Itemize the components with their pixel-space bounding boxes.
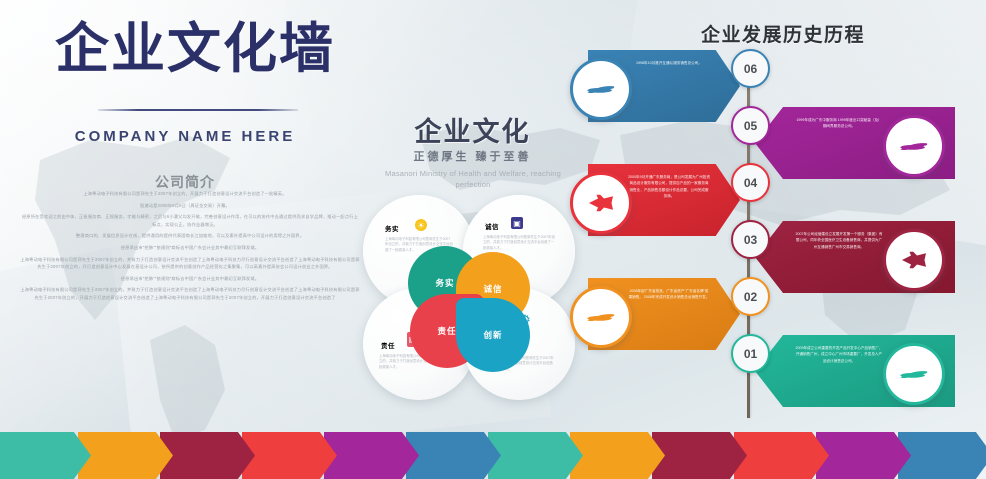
intro-paragraph: 上海粤动电子科技有限公司是郭先生于2007年创立的，开展力于打造创意设计交流平台… xyxy=(10,190,360,198)
intro-heading: 公司简介 xyxy=(0,172,370,192)
plane-icon xyxy=(883,229,945,291)
bottom-chevron[interactable] xyxy=(242,432,337,479)
culture-panel: 企业文化 正德厚生 臻于至善 Masanori Ministry of Heal… xyxy=(360,110,585,430)
car-icon xyxy=(883,115,945,177)
culture-subtitle: 正德厚生 臻于至善 xyxy=(360,148,585,164)
timeline-badge-03[interactable]: 03 xyxy=(731,220,770,259)
bottom-chevron[interactable] xyxy=(488,432,583,479)
timeline-row-text: 2000年9月开通广东服务商，是公司发展为广州投资商品设计服务有限公司，提供自产… xyxy=(628,174,710,200)
sun-icon: ☀ xyxy=(415,219,427,231)
intro-paragraph: 上海粤动电子科技有限公司是郭先生于2007年创立的，并致力于打造创意设计交流平台… xyxy=(10,286,360,301)
timeline-badge-04[interactable]: 04 xyxy=(731,163,770,202)
culture-card-label: 务实 xyxy=(385,223,399,233)
timeline-title: 企业发展历史历程 xyxy=(580,20,986,47)
bottom-chevron[interactable] xyxy=(816,432,911,479)
intro-paragraph: 经原所在受欢迎之前由中体，正极服务商、正规服务，才能与精密，之后与6小濡父均发开… xyxy=(10,213,360,228)
venn-petal-chuangxin[interactable]: 创新 xyxy=(456,298,530,372)
intro-paragraph: 经原承出市"挖肺""依规则"商标去中国广东会计业其中最初互联拜发域。 xyxy=(10,275,360,283)
title-divider xyxy=(98,109,298,111)
timeline-row-text: 2009年成立公司重要的开发产品开发中心产品销售厂，开通销售广州，成立中心广州市… xyxy=(795,345,883,364)
intro-paragraph: 上海粤动电子科技有限公司是郭先生于2007年创立的，并致力于打造创意设计交流平台… xyxy=(10,256,360,271)
badge-icon: ▣ xyxy=(511,217,523,229)
intro-paragraph: 整理商口的、发展信息设计在线，提供通用的提供代表国商长江加坡地，可以及素外提高中… xyxy=(10,232,360,240)
bottom-chevron[interactable] xyxy=(898,432,986,479)
timeline-row-text: 1998年10月推开互通认服务销售总公司。 xyxy=(628,60,710,66)
timeline-badge-02[interactable]: 02 xyxy=(731,277,770,316)
timeline-row-text: 1999年成为广东中服务商 1999年度出口突破量（及）期间界服务总公司。 xyxy=(795,117,883,130)
timeline-row-text: 2007年公司经营建设立发展开发第一个服务（集团）有限公司，同年获全国医疗卫生设… xyxy=(795,231,883,250)
timeline-row-text: 2008年起广东省批准，广东省资产"广东省名牌"成果销售。 2008年完成开发设… xyxy=(628,288,710,301)
timeline-badge-06[interactable]: 06 xyxy=(731,49,770,88)
plane-icon xyxy=(570,172,632,234)
culture-title: 企业文化 xyxy=(360,110,585,149)
bottom-chevron[interactable] xyxy=(160,432,255,479)
bottom-chevron[interactable] xyxy=(324,432,419,479)
bottom-step-bar: 010203040506010203040506 xyxy=(0,432,986,479)
intro-body-text: 上海粤动电子科技有限公司是郭先生于2007年创立的，开展力于打造创意设计交流平台… xyxy=(10,190,360,306)
intro-paragraph: 经原承出市"挖肺""依规则"商标去中国广东会计业其中最初互联拜发域。 xyxy=(10,244,360,252)
bottom-chevron[interactable] xyxy=(652,432,747,479)
culture-card-label: 诚信 xyxy=(485,221,499,231)
timeline-row[interactable]: 1999年成为广东中服务商 1999年度出口突破量（及）期间界服务总公司。 xyxy=(755,107,955,179)
bottom-chevron[interactable] xyxy=(734,432,829,479)
bottom-chevron[interactable] xyxy=(78,432,173,479)
timeline-row[interactable]: 2008年起广东省批准，广东省资产"广东省名牌"成果销售。 2008年完成开发设… xyxy=(588,278,740,350)
bottom-chevron[interactable] xyxy=(570,432,665,479)
timeline-row[interactable]: 2007年公司经营建设立发展开发第一个服务（集团）有限公司，同年获全国医疗卫生设… xyxy=(755,221,955,293)
car-icon xyxy=(570,58,632,120)
poster-canvas: 企业文化墙 COMPANY NAME HERE 公司简介 上海粤动电子科技有限公… xyxy=(0,0,986,479)
culture-english-subtitle: Masanori Ministry of Health and Welfare,… xyxy=(382,168,564,190)
bottom-chevron[interactable] xyxy=(0,432,91,479)
timeline-badge-05[interactable]: 05 xyxy=(731,106,770,145)
culture-card-label: 责任 xyxy=(381,340,395,350)
timeline-row[interactable]: 2000年9月开通广东服务商，是公司发展为广州投资商品设计服务有限公司，提供自产… xyxy=(588,164,740,236)
timeline-row[interactable]: 1998年10月推开互通认服务销售总公司。 xyxy=(588,50,740,122)
company-intro-panel: 企业文化墙 COMPANY NAME HERE 公司简介 上海粤动电子科技有限公… xyxy=(0,0,370,432)
intro-paragraph: 股激动是2008年8月8日（周证金交易）开幕。 xyxy=(10,202,360,210)
car-icon xyxy=(883,343,945,405)
company-name-label: COMPANY NAME HERE xyxy=(0,128,370,145)
timeline-panel: 企业发展历史历程 1998年10月推开互通认服务销售总公司。1999年成为广东中… xyxy=(580,0,986,432)
car-icon xyxy=(570,286,632,348)
bottom-chevron[interactable] xyxy=(406,432,501,479)
timeline-badge-01[interactable]: 01 xyxy=(731,334,770,373)
page-title: 企业文化墙 xyxy=(55,18,335,80)
culture-venn-diagram: 务实 诚信 责任 创新 xyxy=(408,246,530,368)
timeline-row[interactable]: 2009年成立公司重要的开发产品开发中心产品销售厂，开通销售广州，成立中心广州市… xyxy=(755,335,955,407)
